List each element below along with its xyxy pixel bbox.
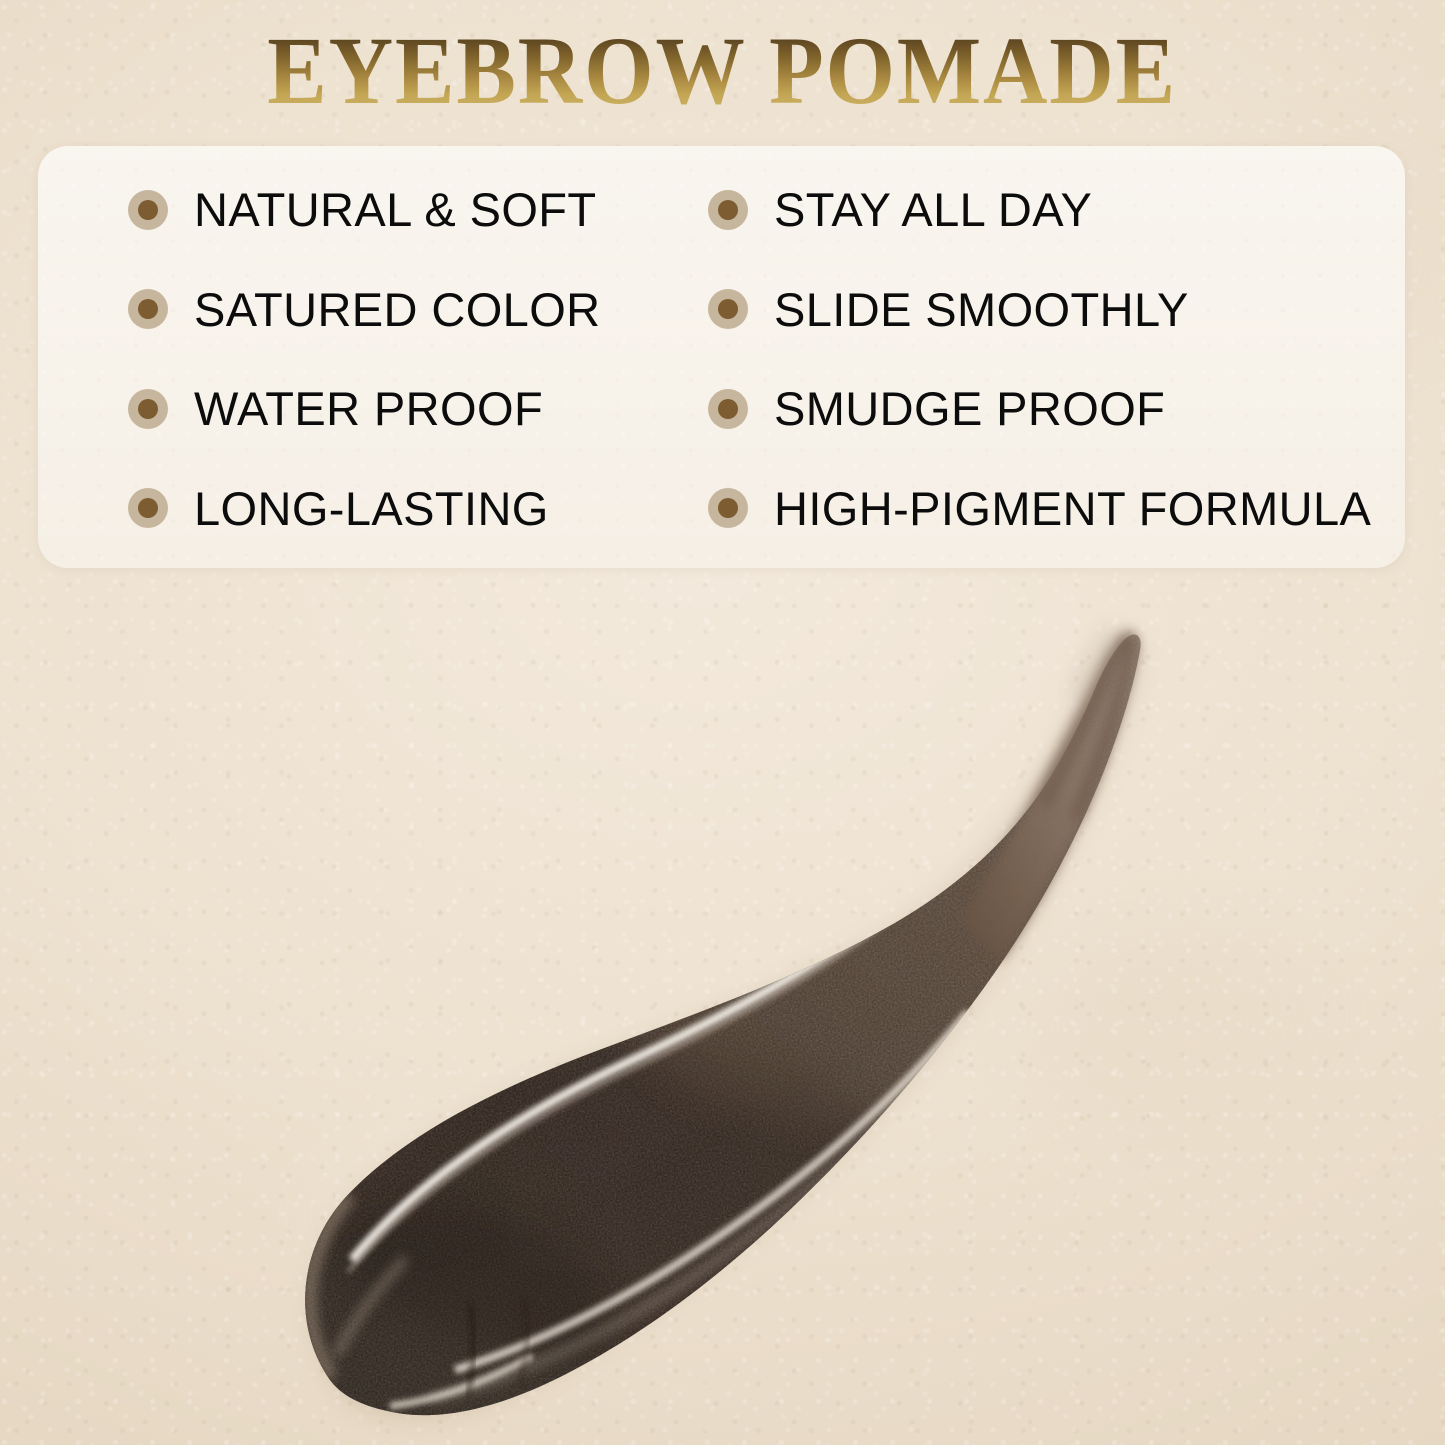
swatch-body bbox=[0, 600, 1445, 1445]
feature-item-stay-all-day: STAY ALL DAY bbox=[698, 186, 1405, 233]
bullet-dot-icon bbox=[708, 289, 748, 329]
feature-label: SLIDE SMOOTHLY bbox=[774, 286, 1189, 333]
feature-item-smudge-proof: SMUDGE PROOF bbox=[698, 385, 1405, 432]
feature-item-high-pigment-formula: HIGH-PIGMENT FORMULA bbox=[698, 485, 1405, 532]
feature-item-water-proof: WATER PROOF bbox=[38, 385, 698, 432]
pomade-smear-swatch bbox=[0, 600, 1445, 1445]
feature-label: WATER PROOF bbox=[194, 385, 543, 432]
feature-list: NATURAL & SOFT STAY ALL DAY SATURED COLO… bbox=[38, 146, 1405, 568]
feature-label: LONG-LASTING bbox=[194, 485, 549, 532]
page-title: EYEBROW POMADE bbox=[268, 22, 1178, 120]
bullet-dot-icon bbox=[128, 289, 168, 329]
bullet-dot-icon bbox=[708, 190, 748, 230]
feature-label: SMUDGE PROOF bbox=[774, 385, 1165, 432]
feature-item-long-lasting: LONG-LASTING bbox=[38, 485, 698, 532]
pomade-smear-illustration bbox=[0, 600, 1445, 1445]
feature-label: HIGH-PIGMENT FORMULA bbox=[774, 485, 1371, 532]
feature-label: STAY ALL DAY bbox=[774, 186, 1092, 233]
bullet-dot-icon bbox=[128, 190, 168, 230]
feature-item-natural-and-soft: NATURAL & SOFT bbox=[38, 186, 698, 233]
bullet-dot-icon bbox=[708, 488, 748, 528]
feature-item-slide-smoothly: SLIDE SMOOTHLY bbox=[698, 286, 1405, 333]
bullet-dot-icon bbox=[128, 488, 168, 528]
bullet-dot-icon bbox=[128, 389, 168, 429]
bullet-dot-icon bbox=[708, 389, 748, 429]
feature-label: SATURED COLOR bbox=[194, 286, 601, 333]
product-feature-image: EYEBROW POMADE NATURAL & SOFT STAY ALL D… bbox=[0, 0, 1445, 1445]
feature-item-satured-color: SATURED COLOR bbox=[38, 286, 698, 333]
feature-panel: NATURAL & SOFT STAY ALL DAY SATURED COLO… bbox=[38, 146, 1405, 568]
page-title-container: EYEBROW POMADE bbox=[0, 22, 1445, 120]
swatch-feathered-tip bbox=[960, 626, 1138, 960]
feature-label: NATURAL & SOFT bbox=[194, 186, 597, 233]
